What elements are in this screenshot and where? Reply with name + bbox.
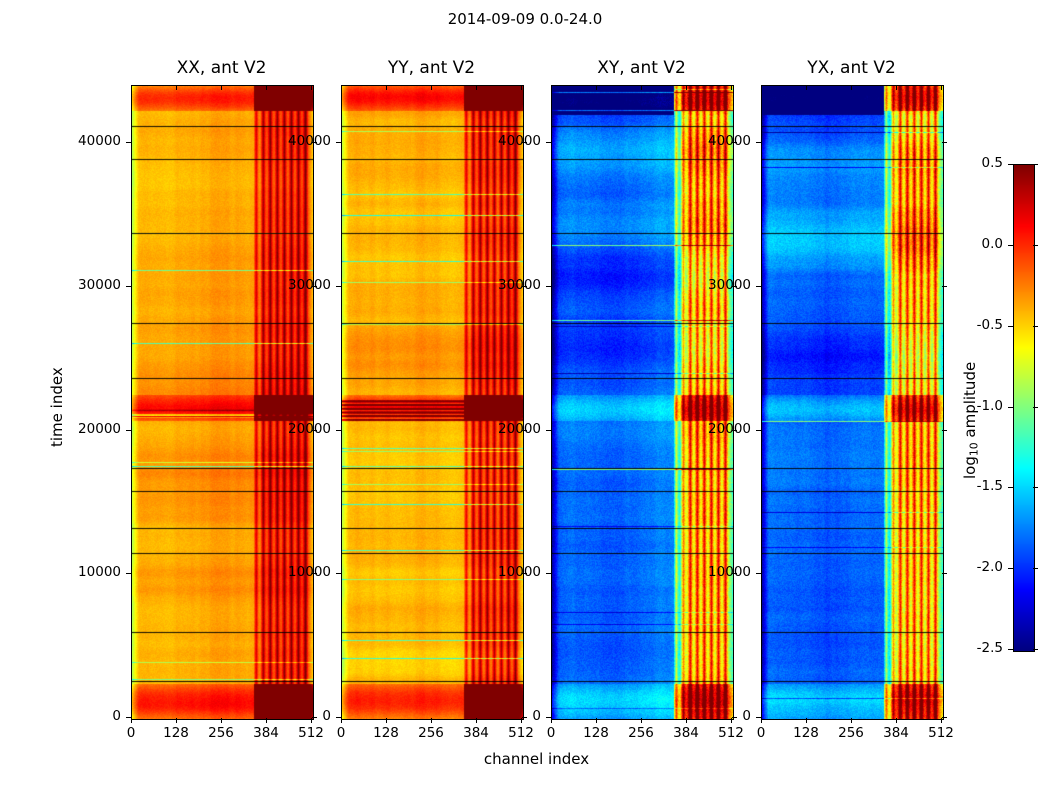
y-tick-label: 10000 [221, 564, 331, 580]
y-tick [336, 430, 341, 431]
colorbar-tick [1008, 487, 1013, 488]
x-tick-top [476, 85, 477, 90]
y-tick-label: 40000 [221, 133, 331, 149]
y-tick [126, 573, 131, 574]
y-tick [126, 286, 131, 287]
x-tick [806, 718, 807, 723]
panel-title-xy: XY, ant V2 [551, 58, 732, 78]
y-tick [756, 430, 761, 431]
x-tick-top [431, 85, 432, 90]
colorbar-label-suffix: amplitude [961, 362, 979, 443]
y-tick [126, 717, 131, 718]
x-tick-top [686, 85, 687, 90]
y-tick-right [942, 142, 947, 143]
x-tick [551, 718, 552, 723]
colorbar-tick-label: -1.0 [908, 398, 1003, 414]
y-tick [546, 573, 551, 574]
x-tick-top [896, 85, 897, 90]
colorbar-label-prefix: log [961, 456, 979, 479]
y-tick [756, 573, 761, 574]
x-tick [176, 718, 177, 723]
y-tick [756, 717, 761, 718]
y-tick-label: 20000 [11, 421, 121, 437]
waterfall-image-yy [342, 86, 523, 719]
x-tick [761, 718, 762, 723]
x-tick-top [521, 85, 522, 90]
x-tick [896, 718, 897, 723]
colorbar-tick-right [1033, 164, 1038, 165]
waterfall-panel-yy[interactable] [341, 85, 524, 720]
y-tick-label: 10000 [11, 564, 121, 580]
colorbar-tick-right [1033, 649, 1038, 650]
y-tick-right [942, 286, 947, 287]
y-tick-label: 40000 [431, 133, 541, 149]
panel-title-yx: YX, ant V2 [761, 58, 942, 78]
y-tick-label: 20000 [221, 421, 331, 437]
colorbar-tick [1008, 568, 1013, 569]
y-tick [336, 142, 341, 143]
colorbar-tick-right [1033, 326, 1038, 327]
y-tick [756, 142, 761, 143]
colorbar-tick [1008, 245, 1013, 246]
y-tick-right [942, 717, 947, 718]
x-tick-top [731, 85, 732, 90]
y-tick-right [942, 430, 947, 431]
y-tick [336, 717, 341, 718]
y-tick-label: 10000 [431, 564, 541, 580]
x-tick [941, 718, 942, 723]
x-tick-top [221, 85, 222, 90]
colorbar-label: log10 amplitude [961, 362, 981, 479]
colorbar-label-subscript: 10 [968, 442, 981, 456]
colorbar-gradient [1014, 165, 1034, 651]
colorbar-tick [1008, 407, 1013, 408]
colorbar-tick-label: -0.5 [908, 317, 1003, 333]
x-tick-top [341, 85, 342, 90]
y-tick-label: 30000 [431, 277, 541, 293]
waterfall-image-xy [552, 86, 733, 719]
y-tick-label: 20000 [431, 421, 541, 437]
x-tick-top [176, 85, 177, 90]
figure-suptitle: 2014-09-09 0.0-24.0 [0, 10, 1050, 28]
y-tick-label: 40000 [11, 133, 121, 149]
x-tick-top [596, 85, 597, 90]
colorbar[interactable] [1013, 164, 1035, 652]
x-tick-label: 512 [911, 725, 971, 741]
colorbar-tick-label: -1.5 [908, 478, 1003, 494]
colorbar-tick-label: -2.0 [908, 559, 1003, 575]
y-tick-label: 0 [431, 708, 541, 724]
colorbar-tick-right [1033, 487, 1038, 488]
x-axis-label: channel index [131, 750, 942, 768]
x-tick [341, 718, 342, 723]
y-tick [126, 430, 131, 431]
panel-title-xx: XX, ant V2 [131, 58, 312, 78]
y-tick-label: 40000 [641, 133, 751, 149]
y-tick-label: 0 [221, 708, 331, 724]
y-tick-label: 0 [641, 708, 751, 724]
panel-title-yy: YY, ant V2 [341, 58, 522, 78]
colorbar-tick-label: 0.0 [908, 236, 1003, 252]
colorbar-tick [1008, 164, 1013, 165]
y-tick [546, 142, 551, 143]
y-tick-label: 10000 [641, 564, 751, 580]
x-tick-top [551, 85, 552, 90]
x-tick-top [761, 85, 762, 90]
colorbar-tick [1008, 326, 1013, 327]
waterfall-panel-xx[interactable] [131, 85, 314, 720]
colorbar-tick-label: -2.5 [908, 640, 1003, 656]
y-tick [336, 286, 341, 287]
x-tick-top [131, 85, 132, 90]
x-tick [131, 718, 132, 723]
x-tick-top [386, 85, 387, 90]
y-tick [126, 142, 131, 143]
x-tick-top [941, 85, 942, 90]
x-tick-top [266, 85, 267, 90]
y-tick-label: 30000 [221, 277, 331, 293]
x-tick-top [311, 85, 312, 90]
colorbar-tick-right [1033, 407, 1038, 408]
x-tick [386, 718, 387, 723]
y-tick [546, 717, 551, 718]
colorbar-tick-right [1033, 568, 1038, 569]
y-tick-label: 20000 [641, 421, 751, 437]
waterfall-image-xx [132, 86, 313, 719]
y-tick [336, 573, 341, 574]
colorbar-tick [1008, 649, 1013, 650]
y-tick-label: 30000 [641, 277, 751, 293]
x-tick-top [851, 85, 852, 90]
x-tick [596, 718, 597, 723]
x-tick-top [641, 85, 642, 90]
waterfall-panel-xy[interactable] [551, 85, 734, 720]
y-tick [546, 430, 551, 431]
colorbar-tick-label: 0.5 [908, 155, 1003, 171]
colorbar-tick-right [1033, 245, 1038, 246]
x-tick-top [806, 85, 807, 90]
waterfall-figure: 2014-09-09 0.0-24.0 time index channel i… [0, 0, 1050, 800]
y-tick-label: 0 [11, 708, 121, 724]
y-tick [756, 286, 761, 287]
x-tick [851, 718, 852, 723]
y-tick [546, 286, 551, 287]
y-tick-label: 30000 [11, 277, 121, 293]
